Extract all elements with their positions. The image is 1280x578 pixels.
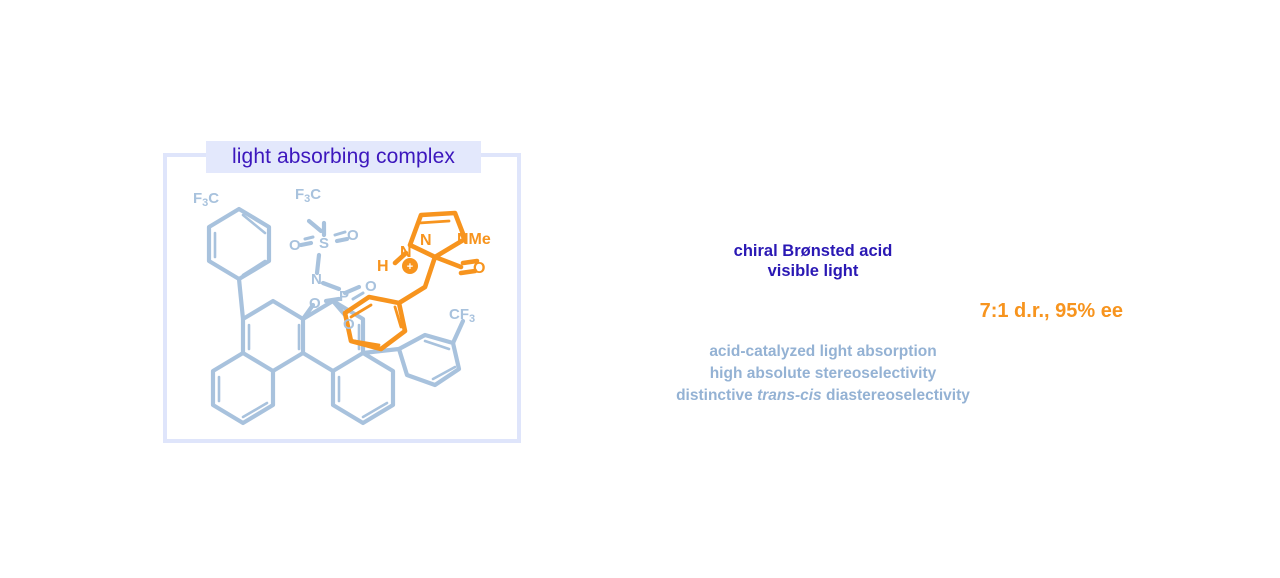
- feature-line-2: high absolute stereoselectivity: [583, 363, 1063, 385]
- feature-line-3-italic: trans-cis: [757, 387, 822, 404]
- svg-text:F3C: F3C: [193, 190, 219, 209]
- atom-label-o-phosphoryl: O: [365, 278, 377, 295]
- atom-label-nme: NMe: [457, 231, 491, 248]
- atom-label-cf3: CF3: [449, 306, 475, 325]
- atom-label-p: P: [339, 288, 349, 305]
- atom-label-n-amide: N: [311, 271, 322, 288]
- atom-label-o-binol-1: O: [309, 295, 321, 312]
- atom-label-n-protonated: N: [400, 244, 412, 261]
- condition-line-1: chiral Brønsted acid: [593, 241, 1033, 261]
- atom-label-h: H: [377, 258, 389, 275]
- atom-label-f3c-right: F3C: [295, 186, 321, 205]
- atom-label-o-binol-2: O: [343, 316, 355, 333]
- feature-line-3: distinctive trans-cis diastereoselectivi…: [583, 385, 1063, 407]
- svg-text:F3C: F3C: [295, 186, 321, 205]
- svg-text:+: +: [407, 261, 413, 273]
- feature-line-1: acid-catalyzed light absorption: [583, 341, 1063, 363]
- yield-selectivity-text: 7:1 d.r., 95% ee: [703, 298, 1123, 324]
- feature-line-3-pre: distinctive: [676, 387, 757, 404]
- feature-line-3-post: diastereoselectivity: [822, 387, 970, 404]
- complex-box-title: light absorbing complex: [206, 141, 481, 173]
- atom-label-o-sulfonyl-1: O: [289, 237, 301, 254]
- atom-label-s: S: [319, 235, 329, 252]
- atom-label-f3c-left: F3C: [193, 190, 219, 209]
- figure-canvas: + F3C F3C O S O N P O O O CF3 N N NMe: [0, 0, 1280, 578]
- condition-line-2: visible light: [593, 261, 1033, 281]
- atom-label-o-carbonyl: O: [473, 260, 485, 277]
- reaction-conditions: chiral Brønsted acid visible light: [593, 241, 1033, 281]
- svg-text:CF3: CF3: [449, 306, 475, 325]
- chemical-structure-diagram: + F3C F3C O S O N P O O O CF3 N N NMe: [163, 153, 521, 443]
- atom-label-o-sulfonyl-2: O: [347, 227, 359, 244]
- feature-list: acid-catalyzed light absorption high abs…: [583, 341, 1063, 407]
- atom-label-n-ring: N: [420, 232, 432, 249]
